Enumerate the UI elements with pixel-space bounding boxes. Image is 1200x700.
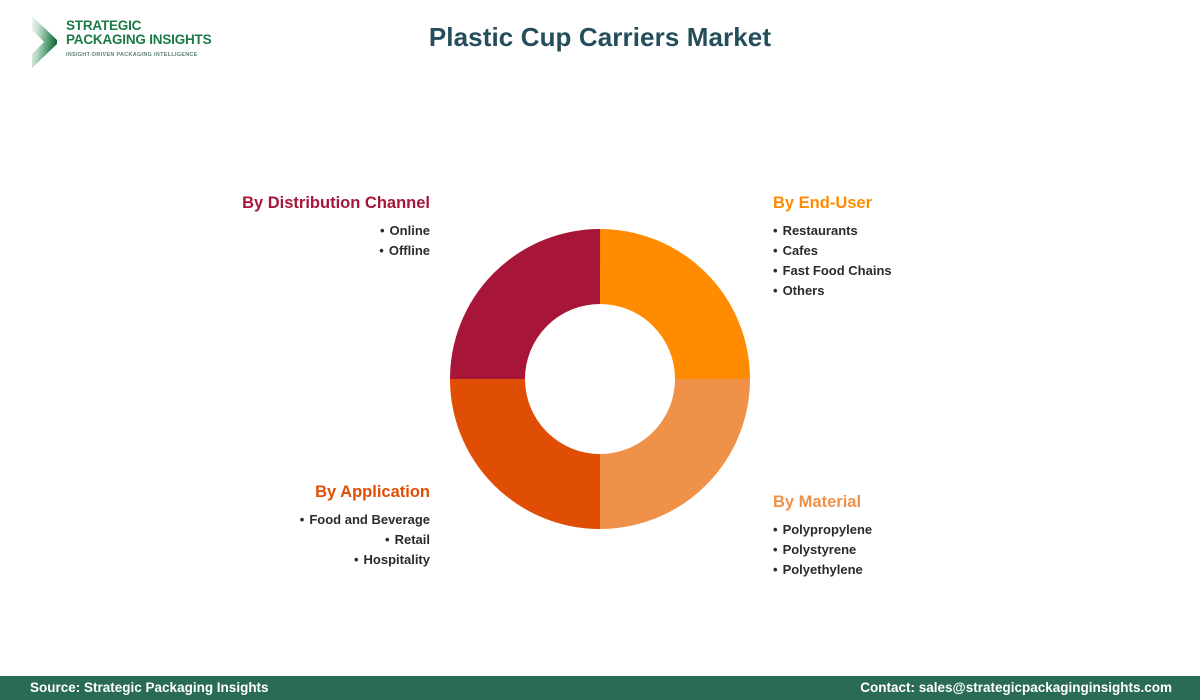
list-item: Polyethylene <box>773 560 1103 580</box>
segment-title-material: By Material <box>773 492 1103 512</box>
donut-chart-svg <box>450 229 750 529</box>
segment-end-user: By End-User Restaurants Cafes Fast Food … <box>773 193 1103 301</box>
list-item: Others <box>773 281 1103 301</box>
segment-distribution-channel: By Distribution Channel Online Offline <box>130 193 430 261</box>
segment-list-material: Polypropylene Polystyrene Polyethylene <box>773 520 1103 580</box>
list-item: Polystyrene <box>773 540 1103 560</box>
list-item: Restaurants <box>773 221 1103 241</box>
segment-material: By Material Polypropylene Polystyrene Po… <box>773 492 1103 580</box>
segment-list-end-user: Restaurants Cafes Fast Food Chains Other… <box>773 221 1103 301</box>
list-item: Online <box>130 221 430 241</box>
list-item: Offline <box>130 241 430 261</box>
segment-title-distribution-channel: By Distribution Channel <box>130 193 430 213</box>
list-item: Cafes <box>773 241 1103 261</box>
segment-title-end-user: By End-User <box>773 193 1103 213</box>
list-item: Polypropylene <box>773 520 1103 540</box>
list-item: Retail <box>105 530 430 550</box>
donut-chart <box>450 229 750 529</box>
list-item: Fast Food Chains <box>773 261 1103 281</box>
page-title: Plastic Cup Carriers Market <box>0 22 1200 53</box>
footer-source: Source: Strategic Packaging Insights <box>30 676 269 700</box>
segment-title-application: By Application <box>105 482 430 502</box>
infographic-page: STRATEGIC PACKAGING INSIGHTS INSIGHT-DRI… <box>0 0 1200 700</box>
footer-contact[interactable]: Contact: sales@strategicpackaginginsight… <box>860 676 1172 700</box>
footer-bar: Source: Strategic Packaging Insights Con… <box>0 676 1200 700</box>
segment-list-distribution-channel: Online Offline <box>130 221 430 261</box>
list-item: Hospitality <box>105 550 430 570</box>
segment-list-application: Food and Beverage Retail Hospitality <box>105 510 430 570</box>
segment-application: By Application Food and Beverage Retail … <box>105 482 430 570</box>
list-item: Food and Beverage <box>105 510 430 530</box>
